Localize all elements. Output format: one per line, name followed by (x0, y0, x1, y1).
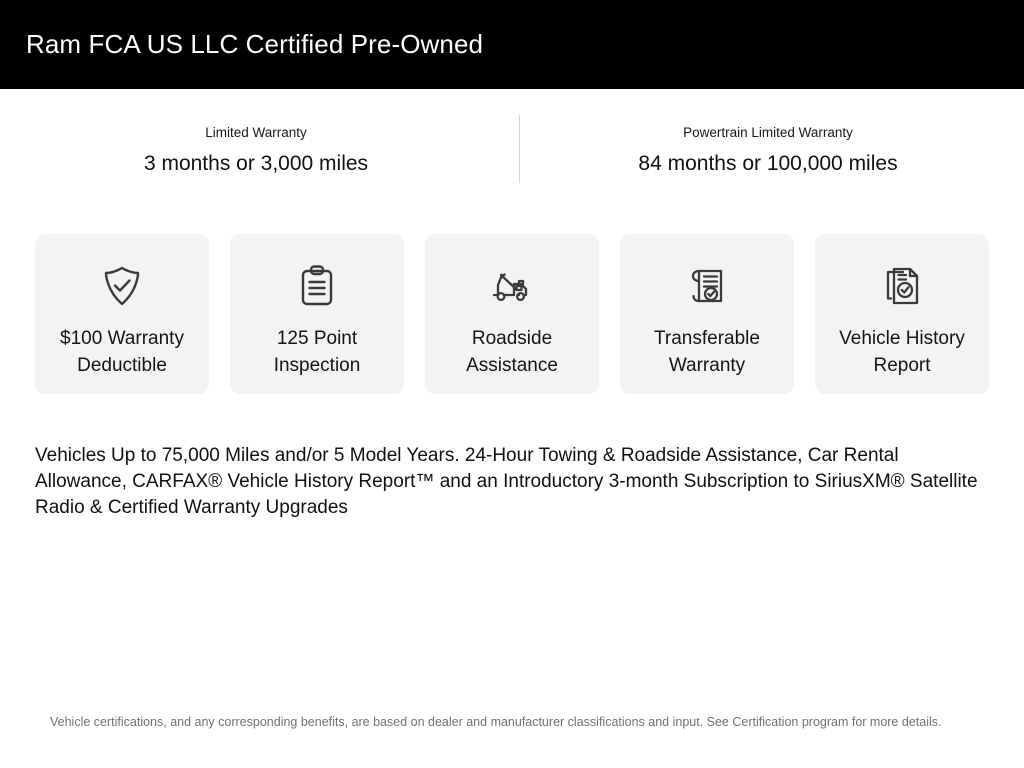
clipboard-icon (291, 260, 343, 312)
feature-card-label: Transferable Warranty (620, 326, 794, 380)
tow-truck-icon (486, 260, 538, 312)
page-header: Ram FCA US LLC Certified Pre-Owned (0, 0, 1024, 89)
shield-check-icon (96, 260, 148, 312)
feature-card-label: $100 Warranty Deductible (35, 326, 209, 380)
feature-card-label: Vehicle History Report (815, 326, 989, 380)
documents-check-icon (876, 260, 928, 312)
warranty-limited: Limited Warranty 3 months or 3,000 miles (0, 112, 512, 176)
feature-card-transferable-warranty[interactable]: Transferable Warranty (620, 234, 794, 394)
warranty-divider (519, 115, 520, 183)
feature-card-warranty-deductible[interactable]: $100 Warranty Deductible (35, 234, 209, 394)
feature-card-label: 125 Point Inspection (230, 326, 404, 380)
feature-card-roadside-assistance[interactable]: Roadside Assistance (425, 234, 599, 394)
feature-cards: $100 Warranty Deductible 125 Point Inspe… (35, 234, 989, 394)
certification-disclaimer: Vehicle certifications, and any correspo… (50, 713, 990, 732)
page-title: Ram FCA US LLC Certified Pre-Owned (26, 30, 483, 59)
certificate-check-icon (681, 260, 733, 312)
warranty-limited-value: 3 months or 3,000 miles (0, 151, 512, 176)
warranty-limited-label: Limited Warranty (0, 125, 512, 141)
warranty-powertrain: Powertrain Limited Warranty 84 months or… (512, 112, 1024, 176)
feature-card-point-inspection[interactable]: 125 Point Inspection (230, 234, 404, 394)
program-description: Vehicles Up to 75,000 Miles and/or 5 Mod… (35, 443, 991, 520)
warranty-powertrain-label: Powertrain Limited Warranty (512, 125, 1024, 141)
feature-card-label: Roadside Assistance (425, 326, 599, 380)
certified-pre-owned-page: Ram FCA US LLC Certified Pre-Owned Limit… (0, 0, 1024, 768)
warranty-summary: Limited Warranty 3 months or 3,000 miles… (0, 112, 1024, 190)
warranty-powertrain-value: 84 months or 100,000 miles (512, 151, 1024, 176)
feature-card-vehicle-history-report[interactable]: Vehicle History Report (815, 234, 989, 394)
